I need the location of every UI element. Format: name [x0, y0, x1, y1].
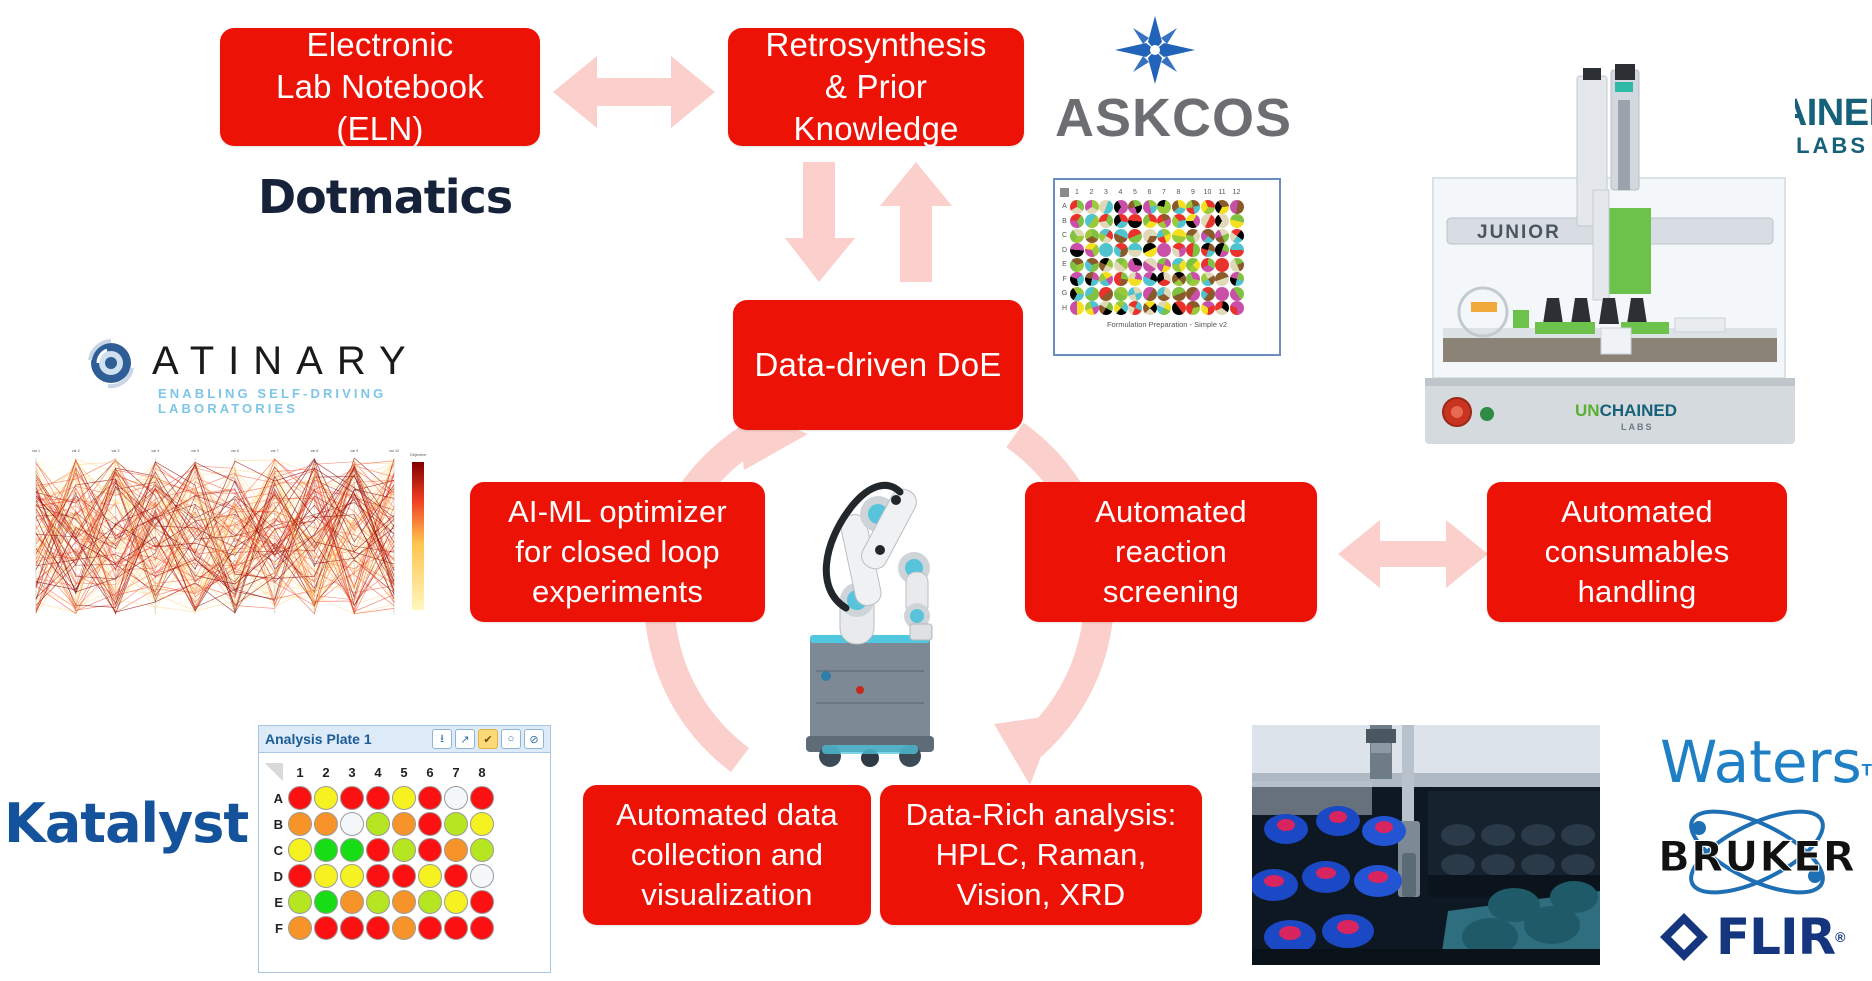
plate-well[interactable] [392, 916, 416, 940]
formulation-well[interactable] [1070, 229, 1084, 243]
formulation-well[interactable] [1128, 272, 1142, 286]
formulation-well[interactable] [1215, 301, 1229, 315]
plate-well[interactable] [288, 916, 312, 940]
plate-well[interactable] [288, 812, 312, 836]
plate-well[interactable] [340, 864, 364, 888]
plate-download-icon[interactable]: ⭳ [432, 729, 452, 749]
formulation-well[interactable] [1201, 243, 1215, 257]
formulation-well[interactable] [1128, 214, 1142, 228]
formulation-col-header[interactable]: 11 [1215, 189, 1229, 196]
svg-text:var 6: var 6 [231, 449, 239, 453]
formulation-well[interactable] [1099, 214, 1113, 228]
formulation-well[interactable] [1201, 200, 1215, 214]
plate-refresh-icon[interactable]: ○ [501, 729, 521, 749]
formulation-col-header[interactable]: 6 [1143, 189, 1157, 196]
plate-block-icon[interactable]: ⊘ [524, 729, 544, 749]
plate-well[interactable] [366, 916, 390, 940]
plate-row: D [265, 863, 542, 889]
formulation-plate-header: 123456789101112 [1059, 185, 1275, 200]
node-automated-reaction-screening[interactable]: Automated reaction screening [1025, 482, 1317, 622]
plate-well[interactable] [418, 812, 442, 836]
formulation-well[interactable] [1099, 301, 1113, 315]
node-automated-consumables-handling[interactable]: Automated consumables handling [1487, 482, 1787, 622]
plate-well[interactable] [366, 838, 390, 862]
formulation-well[interactable] [1128, 301, 1142, 315]
plate-row-header[interactable]: D [265, 869, 288, 884]
formulation-well[interactable] [1114, 243, 1128, 257]
plate-well[interactable] [392, 786, 416, 810]
formulation-well[interactable] [1157, 214, 1171, 228]
formulation-well[interactable] [1143, 243, 1157, 257]
formulation-well[interactable] [1201, 301, 1215, 315]
formulation-row-header[interactable]: G [1059, 290, 1070, 297]
formulation-col-header[interactable]: 2 [1085, 189, 1099, 196]
formulation-well[interactable] [1172, 243, 1186, 257]
formulation-col-header[interactable]: 4 [1114, 189, 1128, 196]
atinary-wordmark: ATINARY [152, 339, 420, 384]
plate-row: B [265, 811, 542, 837]
formulation-well[interactable] [1186, 258, 1200, 272]
diagram-canvas: Electronic Lab Notebook (ELN) Retrosynth… [0, 0, 1872, 981]
plate-well[interactable] [470, 838, 494, 862]
plate-well[interactable] [470, 812, 494, 836]
formulation-well[interactable] [1085, 272, 1099, 286]
formulation-well[interactable] [1186, 287, 1200, 301]
formulation-col-header[interactable]: 8 [1172, 189, 1186, 196]
formulation-well[interactable] [1099, 272, 1113, 286]
atinary-logo: ATINARY ENABLING SELF-DRIVING LABORATORI… [80, 330, 450, 416]
formulation-well[interactable] [1215, 258, 1229, 272]
formulation-well[interactable] [1085, 287, 1099, 301]
formulation-well[interactable] [1070, 287, 1084, 301]
plate-well[interactable] [444, 812, 468, 836]
plate-well[interactable] [470, 786, 494, 810]
plate-col-header[interactable]: 1 [288, 765, 312, 780]
plate-row-header[interactable]: B [265, 817, 288, 832]
svg-text:var 7: var 7 [271, 449, 279, 453]
plate-well[interactable] [418, 864, 442, 888]
formulation-well[interactable] [1230, 287, 1244, 301]
svg-text:var 9: var 9 [350, 449, 358, 453]
formulation-well[interactable] [1143, 229, 1157, 243]
formulation-well[interactable] [1085, 214, 1099, 228]
formulation-well[interactable] [1099, 258, 1113, 272]
svg-text:var 1: var 1 [32, 449, 40, 453]
formulation-well[interactable] [1201, 229, 1215, 243]
formulation-well[interactable] [1143, 258, 1157, 272]
formulation-well[interactable] [1114, 214, 1128, 228]
formulation-well[interactable] [1143, 272, 1157, 286]
formulation-well[interactable] [1114, 229, 1128, 243]
arrow-reaction-consumables [1338, 512, 1488, 596]
formulation-well[interactable] [1099, 200, 1113, 214]
formulation-well[interactable] [1114, 301, 1128, 315]
formulation-col-header[interactable]: 5 [1128, 189, 1142, 196]
formulation-well[interactable] [1215, 272, 1229, 286]
bruker-wordmark: BRUKER [1652, 832, 1862, 881]
plate-row-header[interactable]: E [265, 895, 288, 910]
formulation-well[interactable] [1143, 200, 1157, 214]
formulation-plate-caption: Formulation Preparation - Simple v2 [1055, 318, 1279, 332]
formulation-well[interactable] [1114, 287, 1128, 301]
analysis-plate-column-header: 12345678 [265, 759, 542, 785]
formulation-well[interactable] [1114, 200, 1128, 214]
formulation-col-header[interactable]: 9 [1186, 189, 1200, 196]
plate-well[interactable] [366, 890, 390, 914]
junior-base-brand: UNCHAINED [1575, 401, 1677, 420]
askcos-logo: ASKCOS [1055, 14, 1255, 149]
plate-chart-icon[interactable]: ↗ [455, 729, 475, 749]
plate-row-header[interactable]: F [265, 921, 288, 936]
node-automated-data-collection[interactable]: Automated data collection and visualizat… [583, 785, 871, 925]
formulation-well[interactable] [1157, 229, 1171, 243]
formulation-well[interactable] [1085, 258, 1099, 272]
formulation-well[interactable] [1215, 214, 1229, 228]
plate-well[interactable] [314, 812, 338, 836]
plate-row: E [265, 889, 542, 915]
plate-well[interactable] [288, 838, 312, 862]
plate-row: C [265, 837, 542, 863]
formulation-well[interactable] [1128, 258, 1142, 272]
plate-well[interactable] [444, 786, 468, 810]
analysis-plate-widget[interactable]: Analysis Plate 1 ⭳↗✔○⊘ 12345678 ABCDEF [258, 725, 551, 973]
formulation-col-header[interactable]: 12 [1230, 189, 1244, 196]
plate-row-header[interactable]: C [265, 843, 288, 858]
plate-corner-icon[interactable] [265, 763, 283, 781]
plate-well[interactable] [340, 812, 364, 836]
formulation-well[interactable] [1143, 301, 1157, 315]
formulation-well[interactable] [1114, 272, 1128, 286]
hplc-autosampler-image [1252, 725, 1600, 965]
dotmatics-logo: Dotmatics [258, 170, 512, 224]
formulation-row: B [1059, 214, 1275, 229]
plate-well[interactable] [418, 786, 442, 810]
analysis-plate-toolbar[interactable]: ⭳↗✔○⊘ [432, 729, 544, 749]
formulation-well[interactable] [1143, 214, 1157, 228]
plate-well[interactable] [418, 890, 442, 914]
formulation-well[interactable] [1157, 301, 1171, 315]
select-all-icon[interactable] [1060, 188, 1069, 197]
node-data-driven-doe[interactable]: Data-driven DoE [733, 300, 1023, 430]
waters-tm-mark: TM [1862, 761, 1872, 780]
formulation-well[interactable] [1114, 258, 1128, 272]
formulation-well[interactable] [1172, 214, 1186, 228]
svg-text:var 2: var 2 [72, 449, 80, 453]
formulation-well[interactable] [1085, 229, 1099, 243]
parallel-coordinates-plot: var 1var 2var 3var 4var 5var 6var 7var 8… [22, 442, 442, 632]
plate-col-header[interactable]: 2 [314, 765, 338, 780]
plate-well[interactable] [314, 786, 338, 810]
katalyst-d2d-logo: Katalyst D2D [8, 790, 248, 856]
arrow-eln-retrosynthesis [553, 48, 715, 136]
formulation-well[interactable] [1070, 214, 1084, 228]
formulation-well[interactable] [1070, 243, 1084, 257]
plate-well[interactable] [366, 812, 390, 836]
plate-row-header[interactable]: A [265, 791, 288, 806]
formulation-row-header[interactable]: H [1059, 305, 1070, 312]
waters-logo: WatersTM [1660, 728, 1872, 796]
formulation-well[interactable] [1201, 258, 1215, 272]
plate-col-header[interactable]: 6 [418, 765, 442, 780]
node-data-rich-analysis[interactable]: Data-Rich analysis: HPLC, Raman, Vision,… [880, 785, 1202, 925]
plate-col-header[interactable]: 4 [366, 765, 390, 780]
formulation-well[interactable] [1085, 301, 1099, 315]
formulation-well[interactable] [1070, 258, 1084, 272]
node-eln[interactable]: Electronic Lab Notebook (ELN) [220, 28, 540, 146]
formulation-well[interactable] [1230, 229, 1244, 243]
atinary-swirl-icon [80, 330, 142, 392]
bruker-logo: BRUKER [1652, 806, 1862, 898]
formulation-col-header[interactable]: 7 [1157, 189, 1171, 196]
svg-text:Objective: Objective [410, 452, 427, 457]
plate-well[interactable] [470, 890, 494, 914]
formulation-row: H [1059, 301, 1275, 316]
plate-check-icon[interactable]: ✔ [478, 729, 498, 749]
plate-col-header[interactable]: 5 [392, 765, 416, 780]
formulation-well[interactable] [1099, 243, 1113, 257]
formulation-row-header[interactable]: B [1059, 218, 1070, 225]
formulation-well[interactable] [1172, 258, 1186, 272]
svg-text:var 8: var 8 [310, 449, 318, 453]
analysis-plate-title: Analysis Plate 1 [265, 731, 432, 747]
formulation-well[interactable] [1215, 229, 1229, 243]
plate-well[interactable] [470, 864, 494, 888]
formulation-row-header[interactable]: A [1059, 203, 1070, 210]
svg-text:var 5: var 5 [191, 449, 199, 453]
formulation-plate-widget[interactable]: 123456789101112 ABCDEFGH Formulation Pre… [1053, 178, 1281, 356]
formulation-well[interactable] [1186, 200, 1200, 214]
arrow-retrosynthesis-to-doe [785, 162, 859, 282]
plate-well[interactable] [288, 864, 312, 888]
plate-well[interactable] [340, 786, 364, 810]
svg-text:var 10: var 10 [389, 449, 399, 453]
plate-row: A [265, 785, 542, 811]
formulation-row: C [1059, 229, 1275, 244]
formulation-well[interactable] [1186, 243, 1200, 257]
plate-well[interactable] [288, 786, 312, 810]
plate-well[interactable] [392, 838, 416, 862]
formulation-well[interactable] [1172, 200, 1186, 214]
plate-col-header[interactable]: 8 [470, 765, 494, 780]
svg-text:var 3: var 3 [112, 449, 120, 453]
plate-well[interactable] [340, 890, 364, 914]
formulation-well[interactable] [1085, 200, 1099, 214]
formulation-well[interactable] [1186, 272, 1200, 286]
formulation-well[interactable] [1128, 229, 1142, 243]
askcos-compass-icon [1055, 14, 1255, 86]
formulation-well[interactable] [1201, 272, 1215, 286]
plate-well[interactable] [288, 890, 312, 914]
formulation-row: F [1059, 272, 1275, 287]
junior-deck-brand: JUNIOR [1477, 222, 1561, 243]
formulation-well[interactable] [1172, 272, 1186, 286]
formulation-well[interactable] [1070, 301, 1084, 315]
formulation-well[interactable] [1215, 243, 1229, 257]
plate-well[interactable] [340, 916, 364, 940]
formulation-well[interactable] [1186, 214, 1200, 228]
formulation-well[interactable] [1215, 287, 1229, 301]
formulation-row: G [1059, 287, 1275, 302]
svg-text:var 4: var 4 [151, 449, 159, 453]
formulation-well[interactable] [1201, 214, 1215, 228]
formulation-well[interactable] [1070, 272, 1084, 286]
flir-logo: FLIR ® [1658, 908, 1845, 966]
plate-well[interactable] [314, 864, 338, 888]
plate-well[interactable] [444, 864, 468, 888]
formulation-well[interactable] [1128, 243, 1142, 257]
plate-col-header[interactable]: 3 [340, 765, 364, 780]
plate-well[interactable] [366, 864, 390, 888]
plate-well[interactable] [392, 864, 416, 888]
plate-well[interactable] [392, 890, 416, 914]
formulation-well[interactable] [1230, 243, 1244, 257]
formulation-well[interactable] [1128, 287, 1142, 301]
analysis-plate-header: Analysis Plate 1 ⭳↗✔○⊘ [259, 726, 550, 753]
plate-well[interactable] [418, 838, 442, 862]
formulation-well[interactable] [1070, 200, 1084, 214]
plate-well[interactable] [470, 916, 494, 940]
formulation-well[interactable] [1186, 301, 1200, 315]
formulation-row-header[interactable]: E [1059, 261, 1070, 268]
flir-wordmark: FLIR [1716, 908, 1835, 966]
formulation-well[interactable] [1099, 229, 1113, 243]
katalyst-wordmark: Katalyst [4, 792, 248, 855]
formulation-row: E [1059, 258, 1275, 273]
plate-col-header[interactable]: 7 [444, 765, 468, 780]
formulation-row: D [1059, 243, 1275, 258]
plate-well[interactable] [366, 786, 390, 810]
formulation-row-header[interactable]: F [1059, 276, 1070, 283]
formulation-col-header[interactable]: 3 [1099, 189, 1113, 196]
formulation-well[interactable] [1230, 258, 1244, 272]
formulation-well[interactable] [1157, 272, 1171, 286]
plate-well[interactable] [314, 890, 338, 914]
formulation-well[interactable] [1172, 287, 1186, 301]
plate-well[interactable] [444, 838, 468, 862]
formulation-row-header[interactable]: D [1059, 247, 1070, 254]
arrow-doe-to-retrosynthesis [880, 162, 954, 282]
formulation-well[interactable] [1201, 287, 1215, 301]
formulation-well[interactable] [1157, 287, 1171, 301]
formulation-well[interactable] [1215, 200, 1229, 214]
formulation-well[interactable] [1143, 287, 1157, 301]
plate-well[interactable] [444, 890, 468, 914]
formulation-well[interactable] [1157, 243, 1171, 257]
formulation-well[interactable] [1085, 243, 1099, 257]
formulation-well[interactable] [1186, 229, 1200, 243]
node-retrosynthesis[interactable]: Retrosynthesis & Prior Knowledge [728, 28, 1024, 146]
plate-well[interactable] [444, 916, 468, 940]
plate-well[interactable] [418, 916, 442, 940]
formulation-well[interactable] [1230, 272, 1244, 286]
plate-well[interactable] [314, 838, 338, 862]
formulation-well[interactable] [1172, 229, 1186, 243]
flir-diamond-icon [1658, 911, 1710, 963]
atinary-tagline: ENABLING SELF-DRIVING LABORATORIES [158, 386, 450, 416]
formulation-row-header[interactable]: C [1059, 232, 1070, 239]
dotmatics-wordmark: Dotmatics [258, 170, 512, 224]
formulation-well[interactable] [1172, 301, 1186, 315]
formulation-col-header[interactable]: 10 [1201, 189, 1215, 196]
formulation-well[interactable] [1230, 200, 1244, 214]
formulation-well[interactable] [1157, 258, 1171, 272]
askcos-wordmark: ASKCOS [1055, 87, 1255, 149]
junior-instrument-image: JUNIOR [1425, 60, 1795, 450]
formulation-col-header[interactable]: 1 [1070, 189, 1084, 196]
plate-row: F [265, 915, 542, 941]
formulation-well[interactable] [1128, 200, 1142, 214]
junior-base-brand-sub: LABS [1621, 422, 1654, 432]
formulation-row: A [1059, 200, 1275, 215]
formulation-well[interactable] [1230, 301, 1244, 315]
formulation-well[interactable] [1099, 287, 1113, 301]
plate-well[interactable] [340, 838, 364, 862]
plate-well[interactable] [314, 916, 338, 940]
plate-well[interactable] [392, 812, 416, 836]
flir-registered-mark: ® [1835, 929, 1845, 945]
formulation-well[interactable] [1157, 200, 1171, 214]
formulation-well[interactable] [1230, 214, 1244, 228]
mobile-robot-image [770, 440, 1010, 770]
waters-wordmark: Waters [1660, 728, 1862, 796]
node-aiml-optimizer[interactable]: AI-ML optimizer for closed loop experime… [470, 482, 765, 622]
